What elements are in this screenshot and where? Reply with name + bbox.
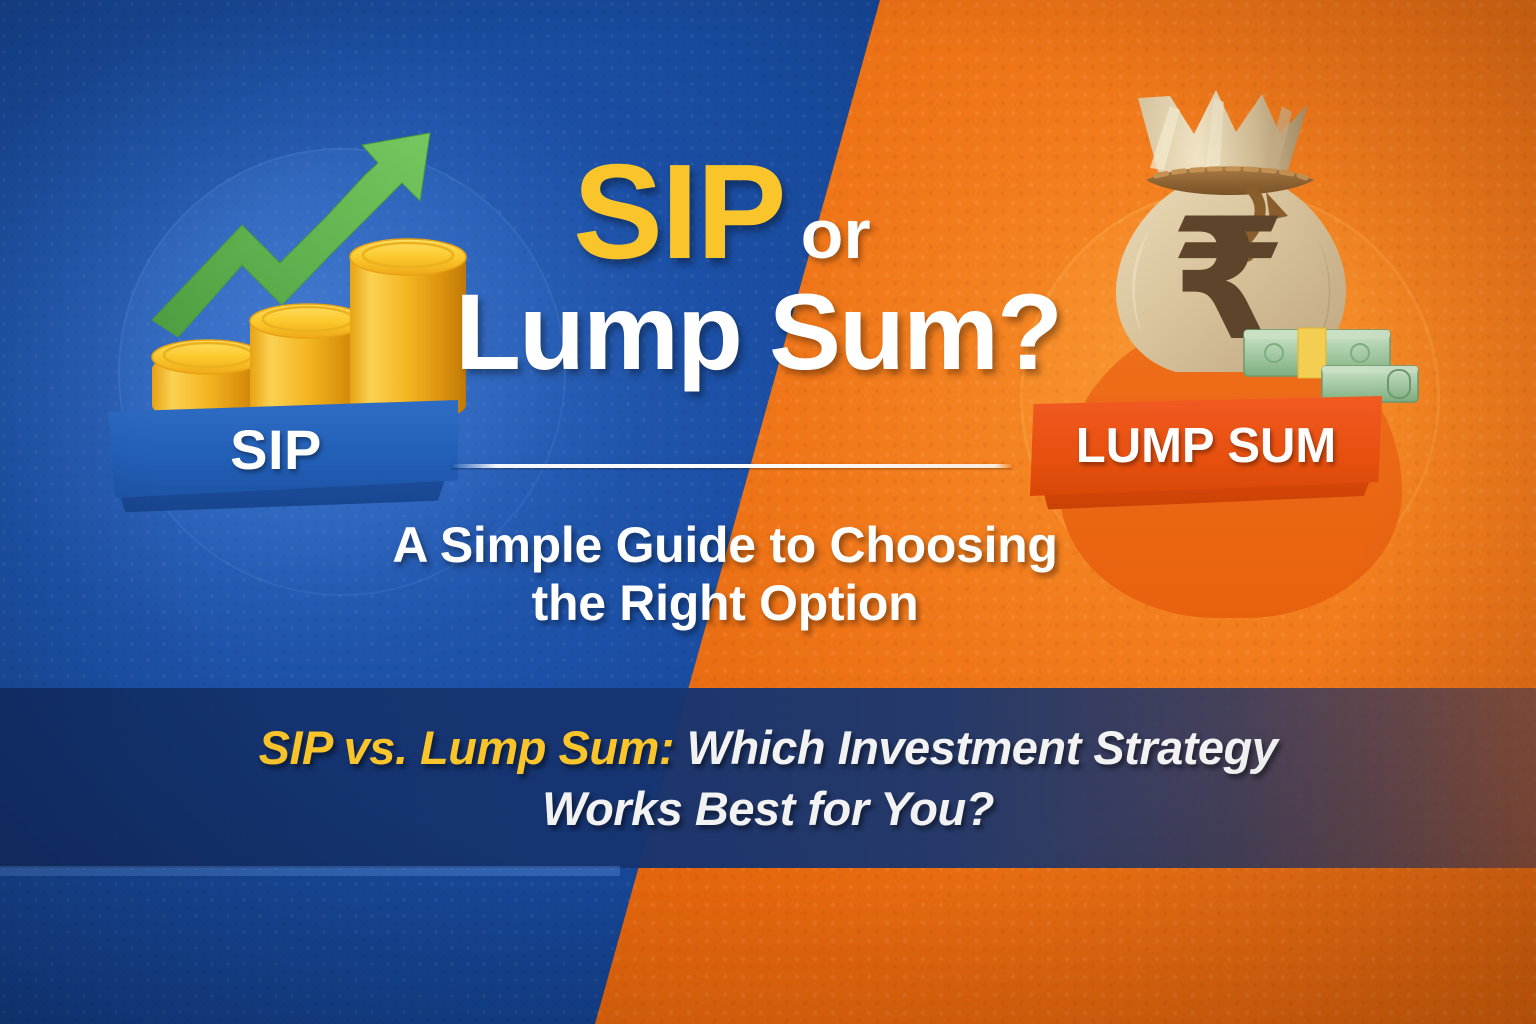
subtitle-line-1: A Simple Guide to Choosing — [330, 516, 1120, 574]
cash-bundles — [1244, 328, 1418, 402]
coin-stack-tall — [350, 239, 466, 422]
headline-sip: SIP — [573, 150, 785, 274]
page-title: SIP or Lump Sum? — [455, 150, 1095, 386]
bag-neck — [1138, 90, 1308, 176]
headline-lump-sum: Lump Sum? — [455, 278, 1095, 386]
subtitle-line-2: the Right Option — [330, 574, 1120, 632]
headline-or: or — [801, 199, 871, 269]
subtitle: A Simple Guide to Choosing the Right Opt… — [330, 516, 1120, 632]
bottom-banner: SIP vs. Lump Sum: Which Investment Strat… — [0, 688, 1536, 868]
growth-chart-icon — [130, 105, 490, 435]
bottom-banner-text: SIP vs. Lump Sum: Which Investment Strat… — [168, 717, 1368, 839]
badge-sip-label: SIP — [230, 417, 322, 482]
banner-rest-line-1: Which Investment Strategy — [674, 721, 1277, 774]
title-divider-rule — [452, 464, 1012, 468]
headline-row-1: SIP or — [455, 150, 1095, 274]
badge-lump-sum[interactable]: LUMP SUM — [1030, 396, 1382, 496]
banner-line-2: Works Best for You? — [168, 778, 1368, 839]
badge-lump-sum-label: LUMP SUM — [1076, 418, 1336, 474]
banner-accent-text: SIP vs. Lump Sum: — [259, 721, 674, 774]
infographic-banner: ₹ SIP LUMP SUM — [0, 0, 1536, 1024]
